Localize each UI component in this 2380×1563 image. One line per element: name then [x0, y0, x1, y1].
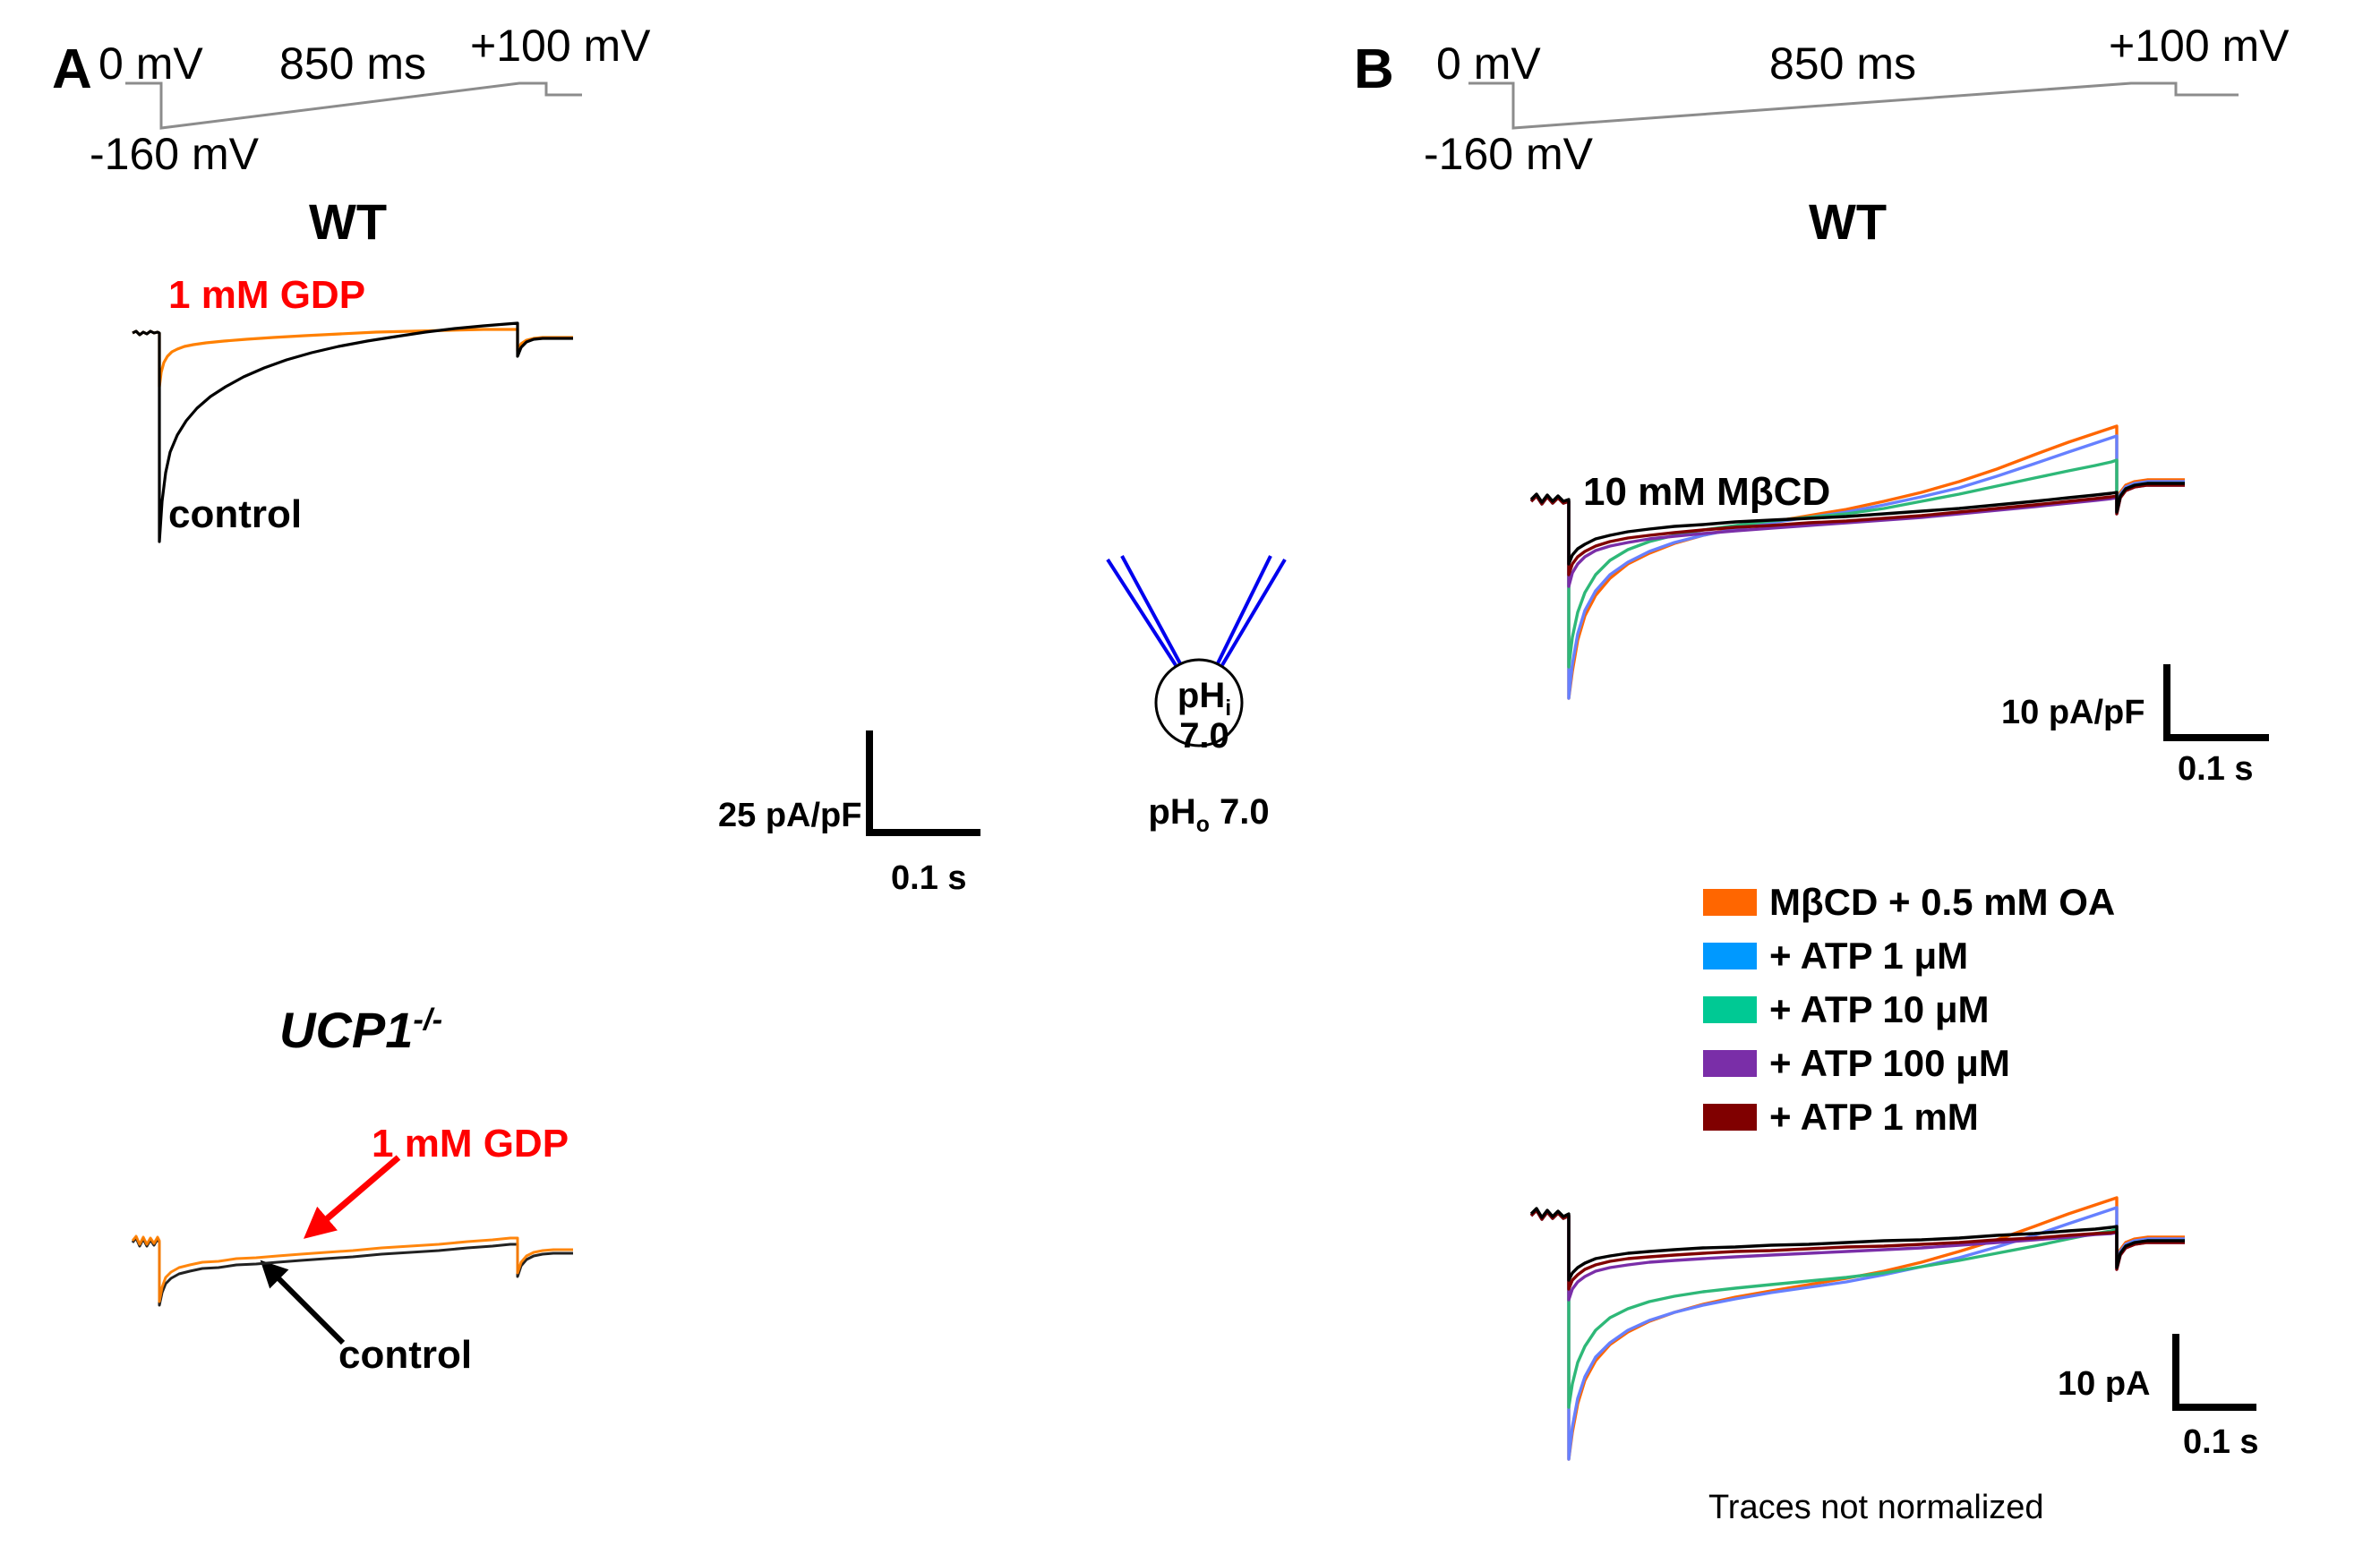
- panel-b-bottom-scalebar-x-label: 0.1 s: [2183, 1423, 2259, 1462]
- panel-a-ucp1ko-traces: [125, 1200, 591, 1343]
- ph-out-value: 7.0: [1220, 792, 1270, 832]
- panel-a-peak-label: +100 mV: [470, 20, 651, 72]
- legend-item: + ATP 1 mM: [1703, 1094, 2115, 1140]
- panel-b-protocol-waveform: [1468, 79, 2274, 132]
- ph-in-text: pH: [1177, 676, 1225, 715]
- legend-item: MβCD + 0.5 mM OA: [1703, 879, 2115, 926]
- legend-label-atp-10um: + ATP 10 μM: [1769, 991, 1990, 1029]
- legend-label-mbcd-oa: MβCD + 0.5 mM OA: [1769, 884, 2115, 921]
- panel-a-scalebar-y-label: 25 pA/pF: [718, 797, 861, 835]
- traces-not-normalized-note: Traces not normalized: [1708, 1489, 2044, 1527]
- panel-a-scalebar: [864, 730, 989, 856]
- legend-swatch-atp-100um: [1703, 1050, 1757, 1077]
- panel-b-peak-label: +100 mV: [2109, 20, 2290, 72]
- panel-b-top-scalebar-y-label: 10 pA/pF: [2001, 694, 2145, 732]
- legend-item: + ATP 1 μM: [1703, 933, 2115, 979]
- panel-a-wt-traces: [125, 313, 591, 546]
- panel-b-letter: B: [1354, 38, 1394, 101]
- panel-b-legend: MβCD + 0.5 mM OA + ATP 1 μM + ATP 10 μM …: [1703, 879, 2115, 1148]
- panel-a-scalebar-x-label: 0.1 s: [891, 859, 967, 898]
- panel-a-protocol-waveform: [125, 79, 600, 132]
- ph-out-subscript: o: [1196, 813, 1210, 837]
- legend-swatch-mbcd-oa: [1703, 889, 1757, 916]
- ph-external-label: pHo 7.0: [1124, 792, 1294, 838]
- panel-a-ucp1ko-title: UCP1-/-: [279, 1001, 442, 1059]
- panel-b-bottom-scalebar-y-label: 10 pA: [2058, 1365, 2150, 1404]
- panel-b-bottom-scalebar: [2170, 1334, 2287, 1432]
- panel-b-step-label: -160 mV: [1424, 128, 1593, 180]
- panel-a-ucp1ko-title-sup: -/-: [413, 1003, 442, 1037]
- panel-a-wt-gdp-label: 1 mM GDP: [168, 273, 365, 318]
- legend-swatch-atp-10um: [1703, 996, 1757, 1023]
- ph-internal-value: 7.0: [1151, 716, 1258, 756]
- panel-a-ucp1ko-title-text: UCP1: [279, 1002, 413, 1058]
- legend-swatch-atp-1mm: [1703, 1104, 1757, 1131]
- legend-item: + ATP 10 μM: [1703, 986, 2115, 1033]
- panel-b-top-scalebar-x-label: 0.1 s: [2178, 750, 2254, 789]
- panel-b-bottom-traces: [1522, 1164, 2203, 1459]
- panel-b-top-traces: [1522, 403, 2203, 698]
- panel-b-wt-title: WT: [1809, 192, 1887, 251]
- ph-internal-label: pHi: [1151, 676, 1258, 722]
- panel-a-wt-title: WT: [309, 192, 387, 251]
- legend-item: + ATP 100 μM: [1703, 1040, 2115, 1087]
- panel-a-letter: A: [52, 38, 92, 101]
- ph-out-text: pH: [1148, 792, 1195, 832]
- panel-b-top-scalebar: [2162, 664, 2278, 763]
- legend-label-atp-100um: + ATP 100 μM: [1769, 1045, 2010, 1082]
- legend-label-atp-1mm: + ATP 1 mM: [1769, 1098, 1979, 1136]
- panel-a-step-label: -160 mV: [90, 128, 259, 180]
- legend-swatch-atp-1um: [1703, 943, 1757, 969]
- legend-label-atp-1um: + ATP 1 μM: [1769, 937, 1968, 975]
